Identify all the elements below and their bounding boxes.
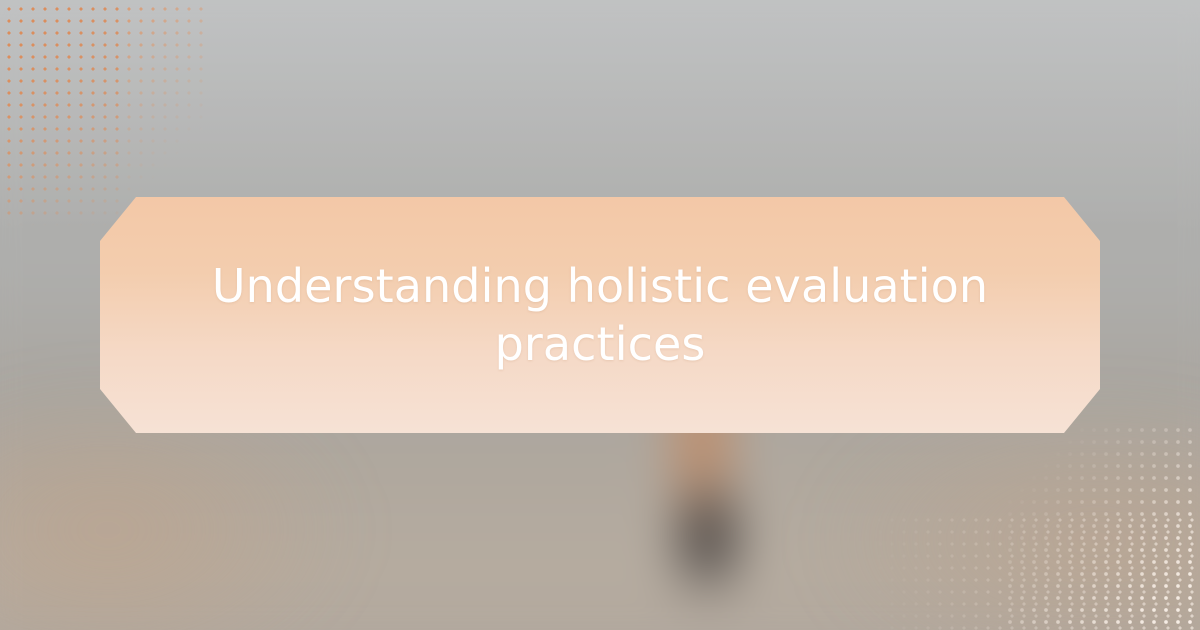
screenshot-canvas: Understanding holistic evaluation practi… [0, 0, 1200, 630]
background-haze-top [0, 0, 1200, 230]
background-warm-glow-right [820, 400, 1200, 630]
page-title: Understanding holistic evaluation practi… [152, 257, 1048, 374]
title-card: Understanding holistic evaluation practi… [100, 197, 1100, 433]
